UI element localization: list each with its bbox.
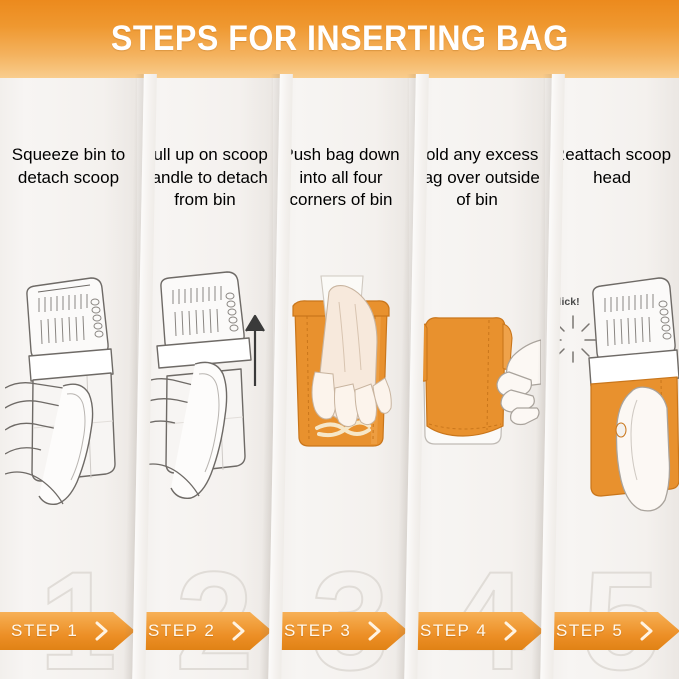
step-panel-4: Fold any excess bag over outside of bin … (409, 78, 545, 679)
step-caption-3: Push bag down into all four corners of b… (273, 144, 409, 212)
step-banner-notch-4 (522, 612, 544, 650)
step-banner-label-2: STEP 2 (137, 621, 215, 641)
step-banner-1: STEP 1 (0, 612, 113, 650)
step-banner-label-3: STEP 3 (273, 621, 351, 641)
step-banner-4: STEP 4 (409, 612, 522, 650)
step-banner-label-1: STEP 1 (0, 621, 78, 641)
step-illustration-4 (409, 268, 545, 568)
step-illustration-2 (137, 268, 273, 568)
step-illustration-3 (273, 268, 409, 568)
step-caption-2: Pull up on scoop handle to detach from b… (137, 144, 273, 212)
step-panel-3: Push bag down into all four corners of b… (273, 78, 409, 679)
step-banner-3: STEP 3 (273, 612, 386, 650)
step-banner-5: STEP 5 (545, 612, 658, 650)
step-panel-1: Squeeze bin to detach scoop 1 (0, 78, 137, 679)
step-banner-notch-3 (386, 612, 408, 650)
step-panel-2: Pull up on scoop handle to detach from b… (137, 78, 273, 679)
steps-container: Squeeze bin to detach scoop 1 (0, 78, 679, 679)
step-caption-4: Fold any excess bag over outside of bin (409, 144, 545, 212)
step-illustration-5: Click! (545, 268, 679, 568)
step-caption-5: Reattach scoop head (545, 144, 679, 189)
click-annotation: Click! (551, 296, 580, 308)
step-banner-2: STEP 2 (137, 612, 250, 650)
step-banner-notch-2 (250, 612, 272, 650)
step-caption-1: Squeeze bin to detach scoop (0, 144, 137, 189)
step-banner-label-5: STEP 5 (545, 621, 623, 641)
step-banner-label-4: STEP 4 (409, 621, 487, 641)
step-panel-5: Reattach scoop head 5 Click! (545, 78, 679, 679)
step-banner-notch-1 (113, 612, 135, 650)
step-banner-notch-5 (658, 612, 679, 650)
page-title: STEPS FOR INSERTING BAG (111, 19, 569, 59)
header-banner: STEPS FOR INSERTING BAG (0, 0, 679, 78)
step-illustration-1 (0, 268, 137, 568)
instruction-graphic: STEPS FOR INSERTING BAG Squeeze bin to d… (0, 0, 679, 679)
